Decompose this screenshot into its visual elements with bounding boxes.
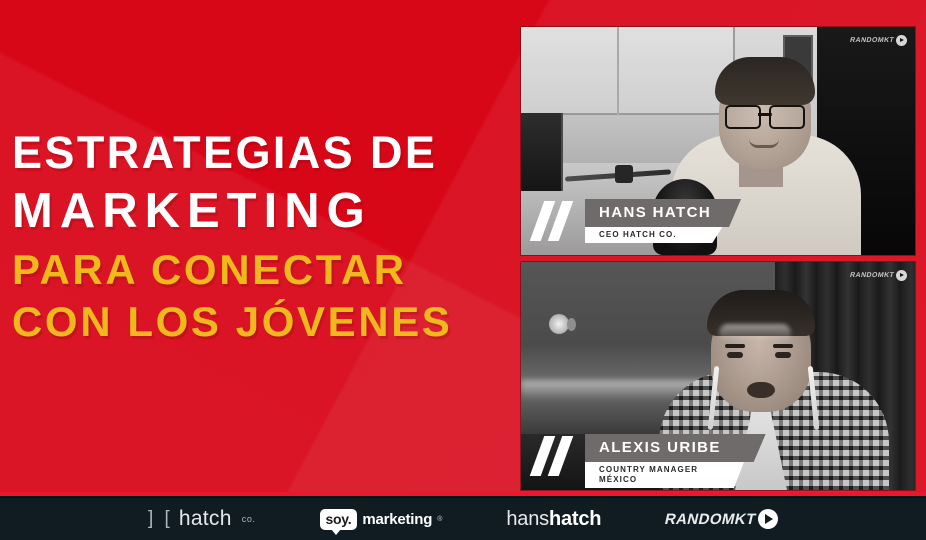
video-panel-alexis-uribe[interactable]: RANDOMKT ALEXIS URIBE COUNTRY MANAGER MÉ… [521, 262, 915, 490]
eyeglasses-icon [725, 105, 805, 125]
speaker-brow-left [725, 344, 745, 348]
watermark-randomkt-top: RANDOMKT [850, 35, 907, 46]
slide-title: ESTRATEGIAS DE MARKETING PARA CONECTAR C… [12, 130, 512, 343]
lower-third-text: HANS HATCH CEO HATCH CO. [585, 199, 741, 243]
hans-wordmark: hans [506, 508, 549, 531]
cabinet [521, 27, 733, 115]
mic-boom-joint [615, 165, 633, 183]
title-line-1: ESTRATEGIAS DE [12, 130, 512, 175]
play-circle-icon [896, 270, 907, 281]
randomkt-wordmark: RANDOMKT [663, 511, 758, 528]
registered-mark: ® [437, 516, 442, 523]
speaker-eye-right [775, 352, 791, 358]
video-panel-hans-hatch[interactable]: RANDOMKT HANS HATCH CEO HATCH CO. [521, 27, 915, 255]
soy-speech-bubble-icon: soy. [320, 509, 358, 530]
speaker-mouth [749, 139, 779, 148]
play-circle-icon [896, 35, 907, 46]
sponsor-logo-bar: ] [ hatch co. soy. marketing ® hanshatch… [0, 496, 926, 540]
speaker-name: HANS HATCH [585, 199, 741, 227]
speaker-name: ALEXIS URIBE [585, 434, 766, 462]
hatch-wordmark-bold: hatch [549, 508, 601, 531]
lower-third-alexis-uribe: ALEXIS URIBE COUNTRY MANAGER MÉXICO [535, 434, 766, 478]
hatch-wordmark: hatch [179, 507, 232, 531]
title-line-4: CON LOS JÓVENES [12, 301, 512, 343]
wall-lamp-shade [567, 318, 576, 331]
title-line-2: MARKETING [12, 187, 512, 236]
logo-hatch-co[interactable]: ] [ hatch co. [148, 507, 256, 531]
logo-hanshatch[interactable]: hanshatch [506, 508, 601, 531]
speaker-role: COUNTRY MANAGER MÉXICO [585, 462, 744, 488]
slide-stage: ESTRATEGIAS DE MARKETING PARA CONECTAR C… [0, 0, 926, 540]
slash-marks-icon [535, 199, 585, 243]
watermark-randomkt-bottom: RANDOMKT [850, 270, 907, 281]
speaker-brow-right [773, 344, 793, 348]
watermark-label: RANDOMKT [849, 272, 895, 279]
slash-marks-icon [535, 434, 585, 478]
speaker-eye-left [727, 352, 743, 358]
hatch-suffix: co. [242, 514, 256, 524]
logo-randomkt[interactable]: RANDOMKT [665, 509, 778, 529]
wall-lamp [549, 314, 569, 334]
play-circle-icon [758, 509, 778, 529]
speaker-mouth-2 [747, 382, 775, 398]
speaker-hair [715, 57, 815, 105]
speaker-role: CEO HATCH CO. [585, 227, 722, 243]
watermark-label: RANDOMKT [849, 37, 895, 44]
lower-third-text: ALEXIS URIBE COUNTRY MANAGER MÉXICO [585, 434, 766, 478]
monitor [521, 113, 563, 191]
logo-soy-marketing[interactable]: soy. marketing ® [320, 509, 443, 530]
lower-third-hans-hatch: HANS HATCH CEO HATCH CO. [535, 199, 741, 243]
forehead-highlight [719, 324, 791, 342]
title-line-3: PARA CONECTAR [12, 249, 512, 291]
marketing-wordmark: marketing [362, 511, 432, 528]
hatch-brackets-icon: ] [ [148, 508, 173, 530]
